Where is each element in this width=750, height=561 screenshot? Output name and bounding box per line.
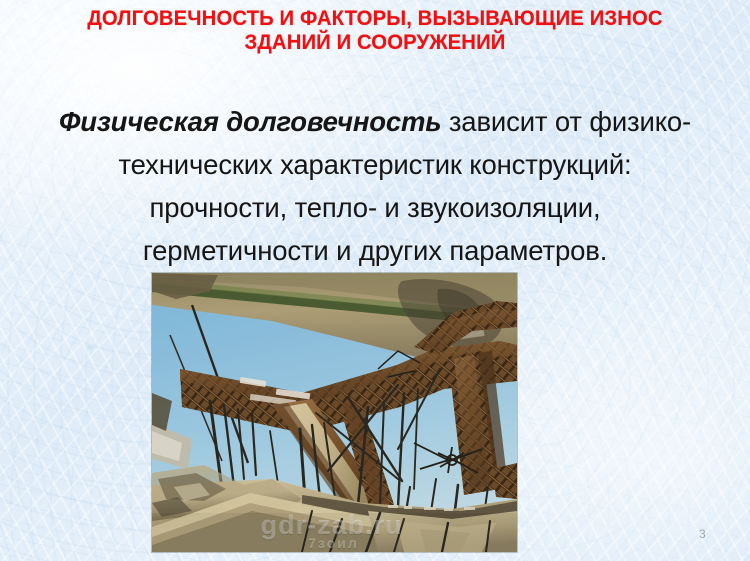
title-line-1: ДОЛГОВЕЧНОСТЬ И ФАКТОРЫ, ВЫЗЫВАЮЩИЕ ИЗНО… xyxy=(21,6,730,30)
body-line-1-rest: зависит от физико- xyxy=(441,106,691,137)
body-line-2: технических характеристик конструкций: xyxy=(14,143,736,186)
presentation-slide: ДОЛГОВЕЧНОСТЬ И ФАКТОРЫ, ВЫЗЫВАЮЩИЕ ИЗНО… xyxy=(0,0,750,561)
body-line-4: герметичности и других параметров. xyxy=(14,229,736,272)
body-paragraph: Физическая долговечность зависит от физи… xyxy=(14,100,736,272)
title-line-2: ЗДАНИЙ И СООРУЖЕНИЙ xyxy=(21,30,730,54)
page-number: 3 xyxy=(699,527,706,541)
collapsed-concrete-slab-illustration xyxy=(152,273,517,552)
page-title: ДОЛГОВЕЧНОСТЬ И ФАКТОРЫ, ВЫЗЫВАЮЩИЕ ИЗНО… xyxy=(0,6,750,54)
body-lead-term: Физическая долговечность xyxy=(59,106,441,137)
slide-photo: gdr-zab.ru 7зоил xyxy=(152,273,517,552)
body-line-3: прочности, тепло- и звукоизоляции, xyxy=(14,186,736,229)
body-line-1: Физическая долговечность зависит от физи… xyxy=(14,100,736,143)
